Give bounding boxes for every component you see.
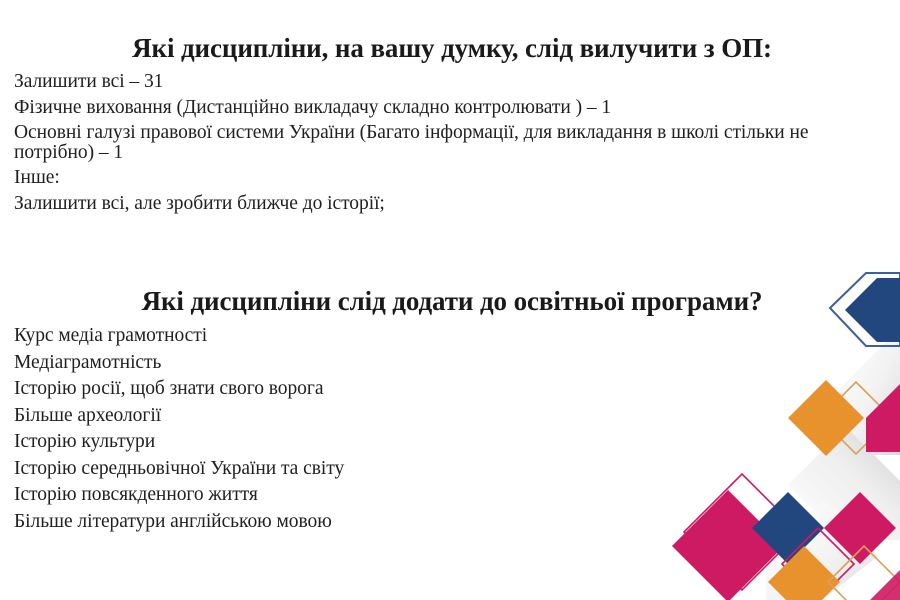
list-item: Залишити всі – 31 bbox=[14, 72, 890, 92]
list-item: Більше археології bbox=[14, 406, 890, 426]
slide-content: Які дисципліни, на вашу думку, слід вилу… bbox=[0, 0, 900, 600]
list-item: Історію росії, щоб знати свого ворога bbox=[14, 379, 890, 399]
list-item: Інше: bbox=[14, 168, 890, 188]
section-one-list: Залишити всі – 31 Фізичне виховання (Дис… bbox=[14, 72, 890, 213]
slide-canvas: Які дисципліни, на вашу думку, слід вилу… bbox=[0, 0, 900, 600]
list-item: Фізичне виховання (Дистанційно викладачу… bbox=[14, 98, 890, 118]
section-two-list: Курс медіа грамотності Медіаграмотність … bbox=[14, 326, 890, 531]
list-item: Курс медіа грамотності bbox=[14, 326, 890, 346]
list-item: Більше літератури англійською мовою bbox=[14, 512, 890, 532]
section-one-heading: Які дисципліни, на вашу думку, слід вилу… bbox=[14, 33, 890, 63]
section-two-heading: Які дисципліни слід додати до освітньої … bbox=[14, 286, 890, 316]
list-item: Медіаграмотність bbox=[14, 353, 890, 373]
section-one: Які дисципліни, на вашу думку, слід вилу… bbox=[14, 33, 890, 219]
list-item: Історію повсякденного життя bbox=[14, 485, 890, 505]
list-item: Історію середньовічної України та світу bbox=[14, 459, 890, 479]
section-two: Які дисципліни слід додати до освітньої … bbox=[14, 286, 890, 538]
list-item: Залишити всі, але зробити ближче до істо… bbox=[14, 194, 890, 214]
list-item: Основні галузі правової системи України … bbox=[14, 123, 890, 162]
list-item: Історію культури bbox=[14, 432, 890, 452]
